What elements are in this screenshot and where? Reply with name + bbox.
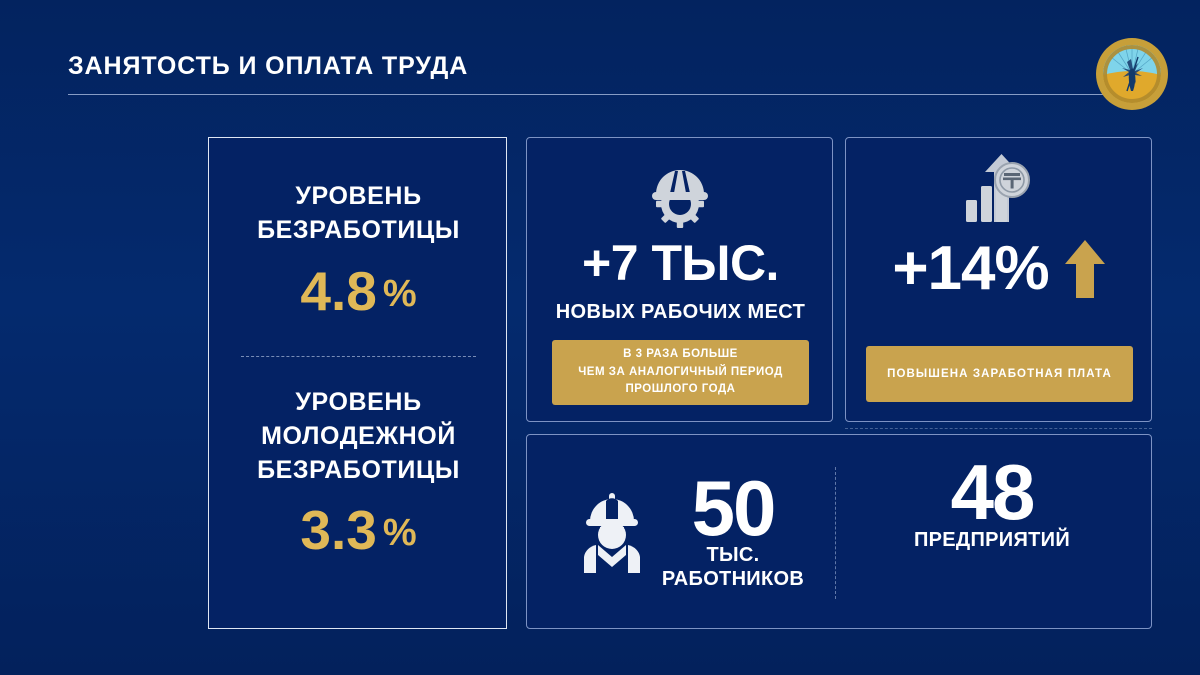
wage-banner: ПОВЫШЕНА ЗАРАБОТНАЯ ПЛАТА <box>866 346 1133 402</box>
unemployment-number: 4.8 <box>300 260 376 322</box>
youth-label-line1: УРОВЕНЬ <box>209 386 508 420</box>
workers-value: 50 <box>662 473 804 545</box>
wage-growth-value: +14% <box>892 238 1048 300</box>
youth-unemployment-metric: УРОВЕНЬ МОЛОДЕЖНОЙ БЕЗРАБОТИЦЫ 3.3% <box>209 386 508 558</box>
page-header: ЗАНЯТОСТЬ И ОПЛАТА ТРУДА <box>0 0 1200 110</box>
arrow-up-icon <box>1063 238 1107 300</box>
new-jobs-banner-line3: ПРОШЛОГО ГОДА <box>578 381 783 399</box>
unemployment-label-line2: БЕЗРАБОТИЦЫ <box>209 214 508 248</box>
enterprises-caption: ПРЕДПРИЯТИЙ <box>847 529 1137 553</box>
youth-unemployment-value: 3.3% <box>209 503 508 558</box>
unemployment-value: 4.8% <box>209 264 508 319</box>
new-jobs-subtitle: НОВЫХ РАБОЧИХ МЕСТ <box>527 301 834 324</box>
emblem-artwork-icon <box>1103 45 1161 103</box>
youth-label-line3: БЕЗРАБОТИЦЫ <box>209 454 508 488</box>
workers-enterprises-card: 50 ТЫС. РАБОТНИКОВ 48 ПРЕДПРИЯТИЙ <box>526 434 1152 629</box>
wage-value-row: +14% <box>846 238 1153 300</box>
card-divider <box>241 356 476 357</box>
bar-chart-arrow-tenge-icon <box>956 150 1042 235</box>
new-jobs-headline: +7 ТЫС. <box>527 234 834 292</box>
new-jobs-banner: В 3 РАЗА БОЛЬШЕ ЧЕМ ЗА АНАЛОГИЧНЫЙ ПЕРИО… <box>552 340 809 405</box>
worker-helmet-icon <box>576 487 648 578</box>
unemployment-unit: % <box>383 273 417 315</box>
workers-stat: 50 ТЫС. РАБОТНИКОВ <box>545 457 835 607</box>
workers-caption-line1: ТЫС. <box>662 544 804 568</box>
youth-unit: % <box>383 512 417 554</box>
emblem-inner <box>1103 45 1161 103</box>
workers-caption-line2: РАБОТНИКОВ <box>662 568 804 592</box>
bottom-card-divider <box>835 467 836 599</box>
page-title: ЗАНЯТОСТЬ И ОПЛАТА ТРУДА <box>68 52 468 81</box>
hard-hat-gear-icon <box>643 154 717 233</box>
enterprises-value: 48 <box>847 457 1137 529</box>
unemployment-metric: УРОВЕНЬ БЕЗРАБОТИЦЫ 4.8% <box>209 180 508 319</box>
workers-caption: ТЫС. РАБОТНИКОВ <box>662 544 804 591</box>
new-jobs-banner-line2: ЧЕМ ЗА АНАЛОГИЧНЫЙ ПЕРИОД <box>578 364 783 382</box>
new-jobs-card: +7 ТЫС. НОВЫХ РАБОЧИХ МЕСТ В 3 РАЗА БОЛЬ… <box>526 137 833 422</box>
youth-number: 3.3 <box>300 499 376 561</box>
unemployment-label: УРОВЕНЬ БЕЗРАБОТИЦЫ <box>209 180 508 248</box>
workers-text: 50 ТЫС. РАБОТНИКОВ <box>662 473 804 592</box>
wage-growth-card: +14% ПОВЫШЕНА ЗАРАБОТНАЯ ПЛАТА <box>845 137 1152 422</box>
region-emblem-logo <box>1096 38 1168 110</box>
new-jobs-banner-line1: В 3 РАЗА БОЛЬШЕ <box>578 346 783 364</box>
unemployment-card: УРОВЕНЬ БЕЗРАБОТИЦЫ 4.8% УРОВЕНЬ МОЛОДЕЖ… <box>208 137 507 629</box>
unemployment-label-line1: УРОВЕНЬ <box>209 180 508 214</box>
youth-label-line2: МОЛОДЕЖНОЙ <box>209 420 508 454</box>
layout-dashed-guide <box>845 428 1152 429</box>
title-underline <box>68 94 1140 95</box>
enterprises-stat: 48 ПРЕДПРИЯТИЙ <box>847 457 1137 607</box>
youth-unemployment-label: УРОВЕНЬ МОЛОДЕЖНОЙ БЕЗРАБОТИЦЫ <box>209 386 508 487</box>
